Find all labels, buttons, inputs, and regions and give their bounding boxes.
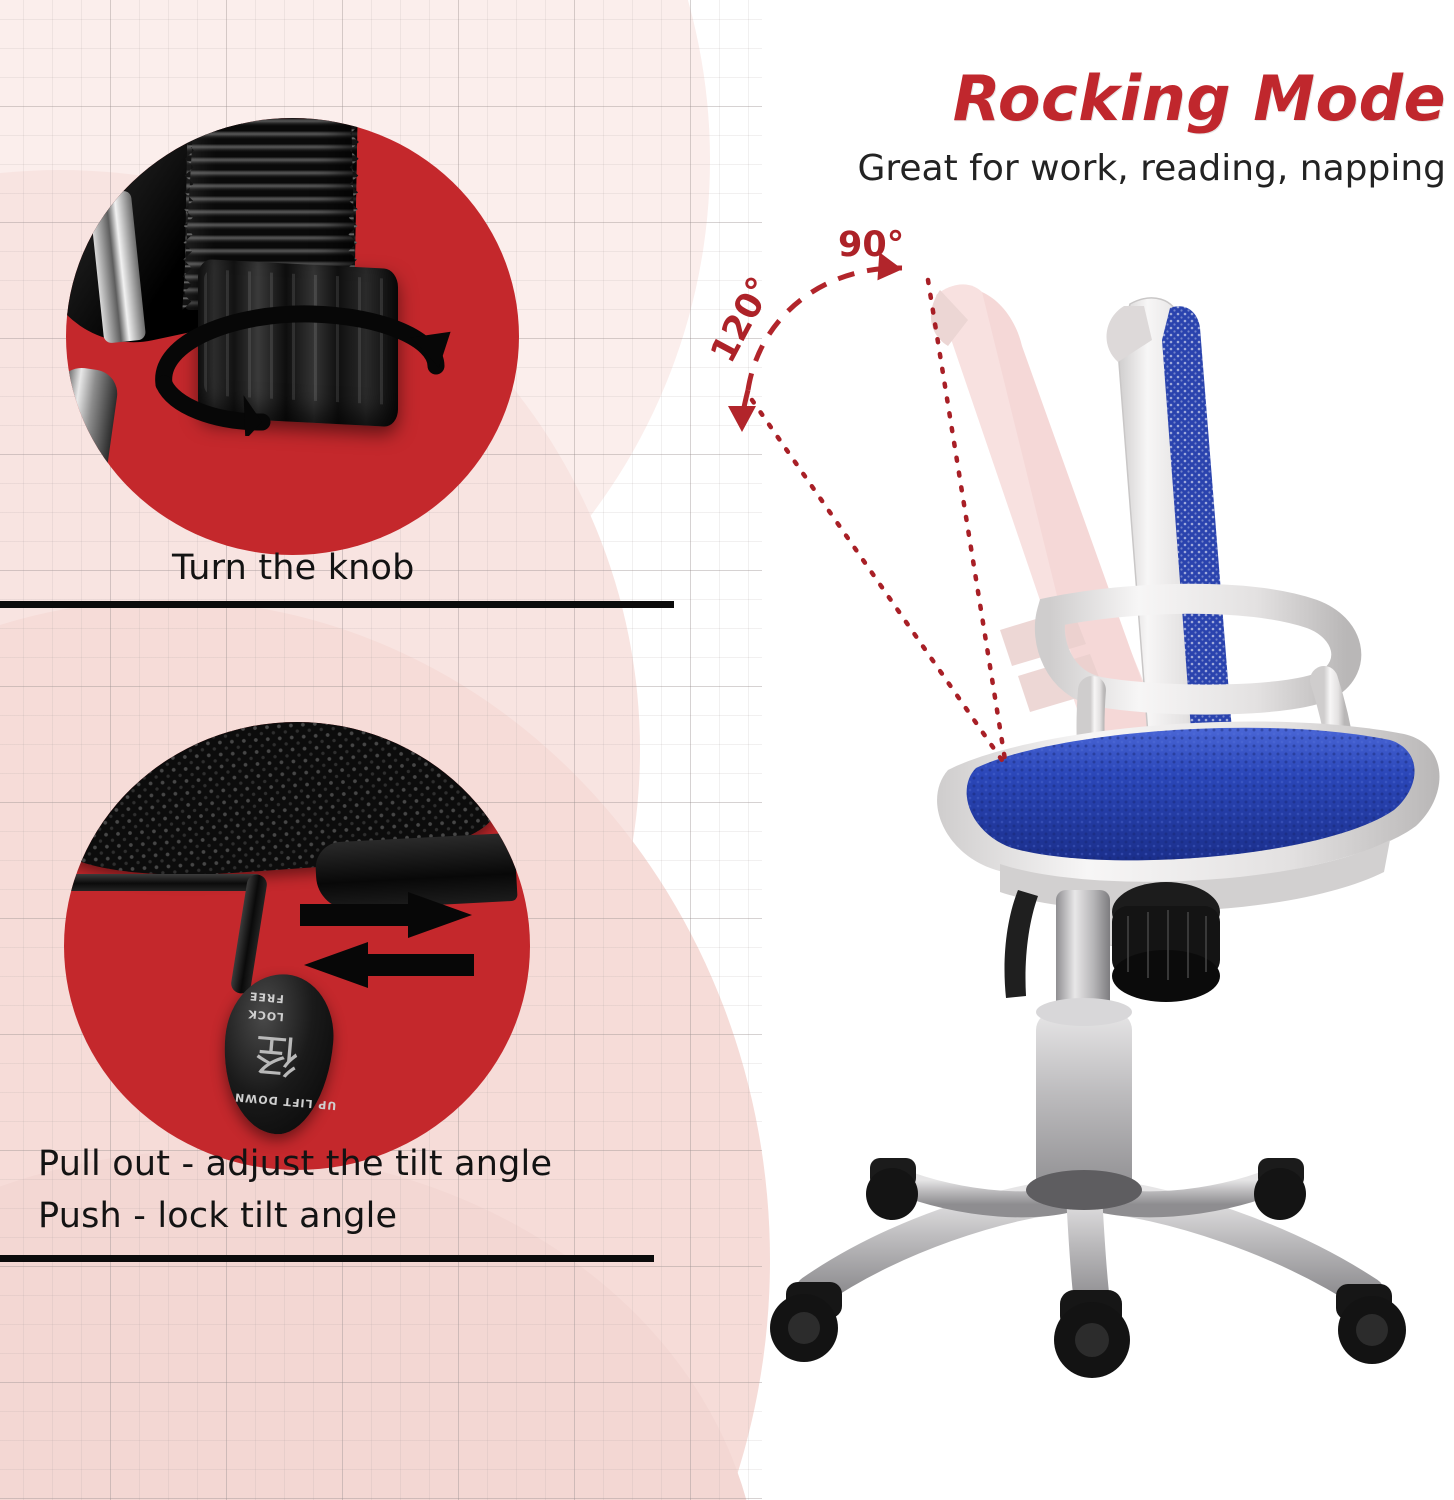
angle-label-90: 90° xyxy=(838,225,904,265)
lever-label-free: FREE xyxy=(248,989,284,1005)
detail-circle-knob xyxy=(66,118,519,555)
infographic-canvas: FREE LOCK 径 UP LIFT DOWN Turn the knob P… xyxy=(0,0,1454,1500)
rotation-arrow-icon xyxy=(144,296,454,436)
caster xyxy=(1254,1158,1306,1220)
caster xyxy=(1054,1290,1130,1378)
lever-label-up-lift-down: UP LIFT DOWN xyxy=(234,1090,337,1112)
lever-glyph: 径 xyxy=(236,1029,318,1080)
left-arrow-icon xyxy=(304,942,474,988)
caster xyxy=(866,1158,918,1220)
lever-shaft xyxy=(64,874,264,891)
lever-elbow xyxy=(230,873,269,995)
right-arrow-icon xyxy=(300,892,472,938)
base-hub xyxy=(1026,1170,1142,1210)
divider-rule-bottom xyxy=(0,1255,654,1262)
push-pull-arrows xyxy=(296,890,496,1010)
page-title: Rocking Mode xyxy=(953,62,1446,135)
caption-pull-out: Pull out - adjust the tilt angle xyxy=(38,1144,552,1184)
office-chair-illustration xyxy=(700,200,1454,1390)
caster xyxy=(770,1282,842,1362)
tension-knob xyxy=(1112,882,1220,1002)
caption-turn-the-knob: Turn the knob xyxy=(172,548,415,588)
detail-circle-tilt-lever: FREE LOCK 径 UP LIFT DOWN xyxy=(64,722,530,1170)
lever-label-lock: LOCK xyxy=(247,1007,285,1023)
caption-push-lock: Push - lock tilt angle xyxy=(38,1196,397,1236)
caster xyxy=(1336,1284,1406,1364)
page-subtitle: Great for work, reading, napping xyxy=(858,148,1447,189)
tilt-paddle-lever xyxy=(1005,890,1039,998)
divider-rule-top xyxy=(0,601,674,608)
